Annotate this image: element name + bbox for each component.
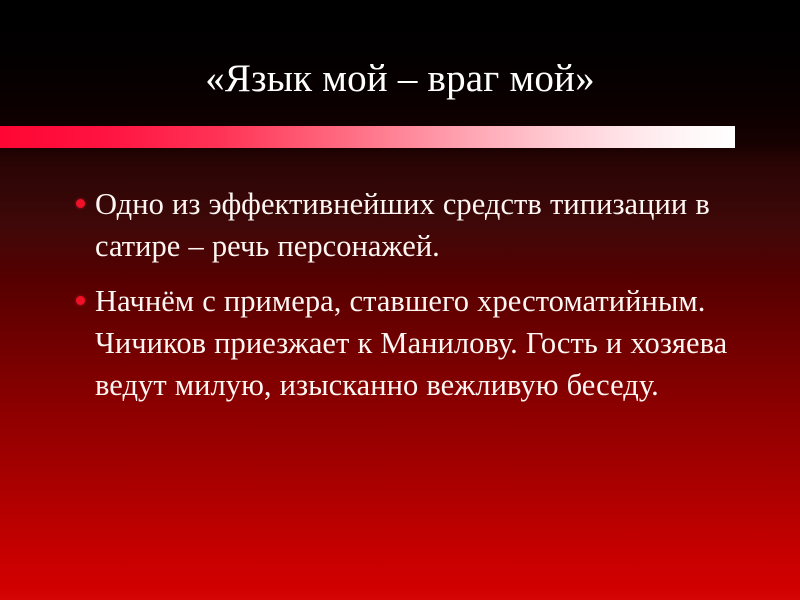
- bullet-dot-icon: [76, 199, 85, 208]
- slide-title: «Язык мой – враг мой»: [0, 56, 800, 102]
- bullet-list-item-text: Одно из эффективнейших средств типизации…: [95, 183, 735, 267]
- bullet-list-item-text: Начнём с примера, ставшего хрестоматийны…: [95, 280, 735, 406]
- slide-body-bullet-list: Одно из эффективнейших средств типизации…: [62, 183, 742, 410]
- title-accent-bar: [0, 126, 735, 148]
- bullet-list-item: Начнём с примера, ставшего хрестоматийны…: [62, 280, 742, 406]
- presentation-slide: «Язык мой – враг мой» Одно из эффективне…: [0, 0, 800, 600]
- bullet-dot-icon: [76, 296, 85, 305]
- bullet-list-item: Одно из эффективнейших средств типизации…: [62, 183, 742, 267]
